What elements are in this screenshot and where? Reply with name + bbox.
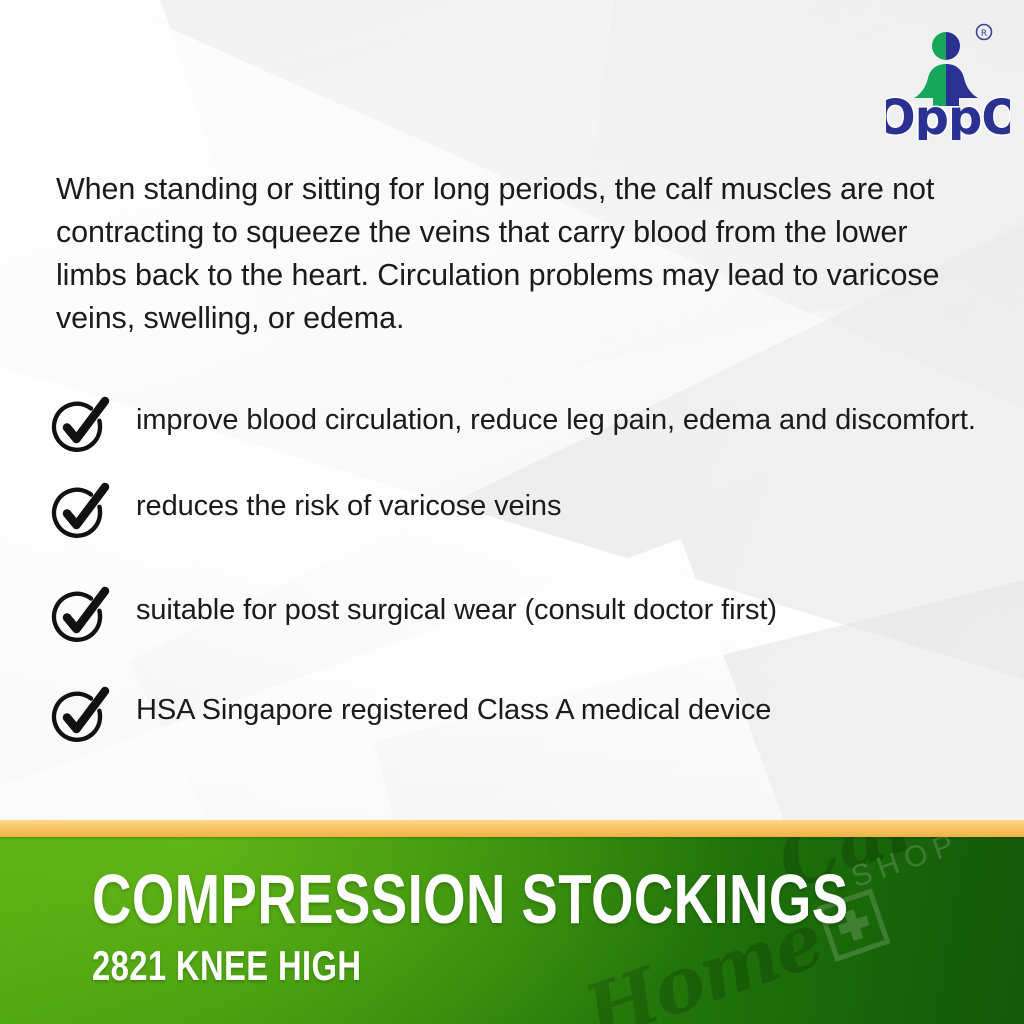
registered-mark-icon: R — [977, 25, 992, 40]
check-circle-icon — [50, 396, 112, 454]
svg-text:R: R — [981, 29, 987, 39]
benefits-list: improve blood circulation, reduce leg pa… — [50, 398, 980, 770]
product-infographic: R OppO When standing or sitting for long… — [0, 0, 1024, 1024]
check-circle-icon — [50, 586, 112, 644]
oppo-logo: R OppO — [886, 12, 1010, 140]
banner-accent-stripe — [0, 820, 1024, 837]
banner-title: COMPRESSION STOCKINGS — [92, 864, 849, 934]
banner-subtitle: 2821 KNEE HIGH — [92, 945, 361, 987]
benefit-item: suitable for post surgical wear (consult… — [50, 588, 980, 644]
intro-paragraph: When standing or sitting for long period… — [56, 168, 966, 340]
benefit-text: reduces the risk of varicose veins — [136, 484, 561, 528]
benefit-text: improve blood circulation, reduce leg pa… — [136, 398, 976, 442]
oppo-wordmark: OppO — [886, 90, 1010, 140]
svg-text:OppO: OppO — [886, 90, 1010, 140]
product-banner: Care SHOP The Home COMPRESSION STOCKINGS… — [0, 820, 1024, 1024]
benefit-text: suitable for post surgical wear (consult… — [136, 588, 777, 632]
benefit-text: HSA Singapore registered Class A medical… — [136, 688, 771, 732]
benefit-item: improve blood circulation, reduce leg pa… — [50, 398, 980, 454]
check-circle-icon — [50, 686, 112, 744]
benefit-item: HSA Singapore registered Class A medical… — [50, 688, 980, 744]
benefit-item: reduces the risk of varicose veins — [50, 484, 980, 540]
watermark-the: The — [538, 1016, 595, 1024]
check-circle-icon — [50, 482, 112, 540]
